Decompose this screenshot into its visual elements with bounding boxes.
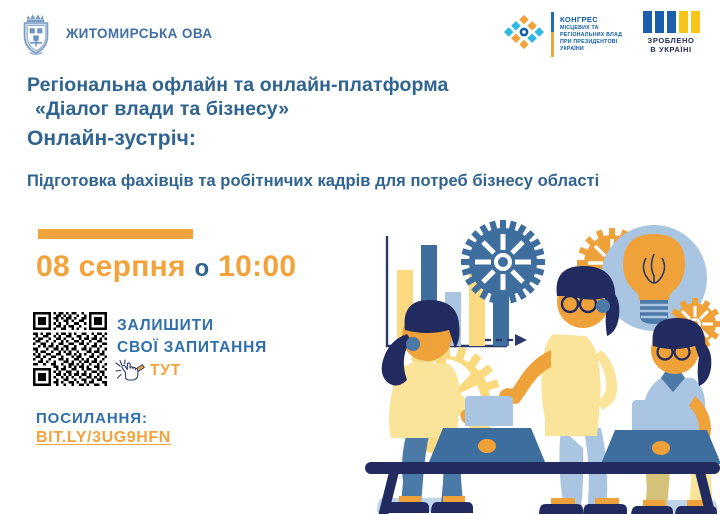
datetime-separator: о (194, 255, 209, 282)
event-time: 10:00 (218, 250, 296, 283)
team-meeting-illustration: ? (365, 210, 720, 514)
poster-root: ЖИТОМИРСЬКА ОВА (0, 0, 720, 514)
earphone-icon (406, 337, 420, 351)
made-in-ukraine-bars (633, 11, 709, 33)
arrow-head (515, 334, 527, 346)
link-label: ПОСИЛАННЯ: (36, 409, 171, 429)
qr-section[interactable]: ЗАЛИШИТИ СВОЇ ЗАПИТАННЯ ТУТ (33, 312, 267, 386)
accent-rule (38, 229, 193, 239)
blue-gear (461, 220, 545, 304)
congress-line-4: ПРИ ПРЕЗИДЕНТОВІ (560, 39, 622, 46)
zhytomyr-coat-of-arms-icon (16, 8, 56, 58)
qr-code-icon[interactable] (33, 312, 107, 386)
qr-caption: ЗАЛИШИТИ СВОЇ ЗАПИТАННЯ ТУТ (117, 312, 267, 383)
qr-line-2: СВОЇ ЗАПИТАННЯ (117, 337, 267, 359)
qr-line-3-row: ТУТ (117, 359, 267, 383)
congress-logo: КОНГРЕС МІСЦЕВИХ ТА РЕГІОНАЛЬНИХ ВЛАД ПР… (503, 12, 622, 57)
congress-divider (551, 12, 554, 57)
qr-line-1: ЗАЛИШИТИ (117, 315, 267, 337)
page-title: Регіональна офлайн та онлайн-платформа «… (27, 74, 607, 122)
made-in-ukraine-logo: ЗРОБЛЕНО В УКРАЇНІ (633, 11, 709, 55)
page-subtitle: Онлайн-зустріч: (27, 127, 196, 151)
congress-line-2: МІСЦЕВИХ ТА (560, 25, 622, 32)
event-datetime: 08 серпня о 10:00 (36, 250, 296, 284)
title-line-1: Регіональна офлайн та онлайн-платформа (27, 74, 449, 96)
event-topic: Підготовка фахівців та робітничих кадрів… (27, 172, 667, 192)
congress-line-1: КОНГРЕС (560, 16, 622, 25)
link-section[interactable]: ПОСИЛАННЯ: BIT.LY/3UG9HFN (36, 409, 171, 447)
earphone-icon (596, 299, 610, 313)
made-in-line-1: ЗРОБЛЕНО (633, 36, 709, 45)
header: ЖИТОМИРСЬКА ОВА (0, 0, 720, 66)
congress-line-5: УКРАЇНИ (560, 46, 622, 53)
qr-line-3: ТУТ (150, 360, 181, 382)
brand-name: ЖИТОМИРСЬКА ОВА (66, 26, 212, 41)
person-center (499, 266, 627, 514)
brand: ЖИТОМИРСЬКА ОВА (16, 8, 212, 58)
pointing-hand-click-icon (117, 359, 148, 383)
congress-text: КОНГРЕС МІСЦЕВИХ ТА РЕГІОНАЛЬНИХ ВЛАД ПР… (560, 12, 622, 57)
made-in-ukraine-label: ЗРОБЛЕНО В УКРАЇНІ (633, 36, 709, 55)
event-link[interactable]: BIT.LY/3UG9HFN (36, 429, 171, 447)
title-line-2: «Діалог влади та бізнесу» (27, 98, 607, 122)
event-date: 08 серпня (36, 250, 186, 283)
congress-line-3: РЕГІОНАЛЬНИХ ВЛАД (560, 32, 622, 39)
made-in-line-2: В УКРАЇНІ (633, 45, 709, 54)
congress-diamond-logo-icon (503, 12, 545, 57)
